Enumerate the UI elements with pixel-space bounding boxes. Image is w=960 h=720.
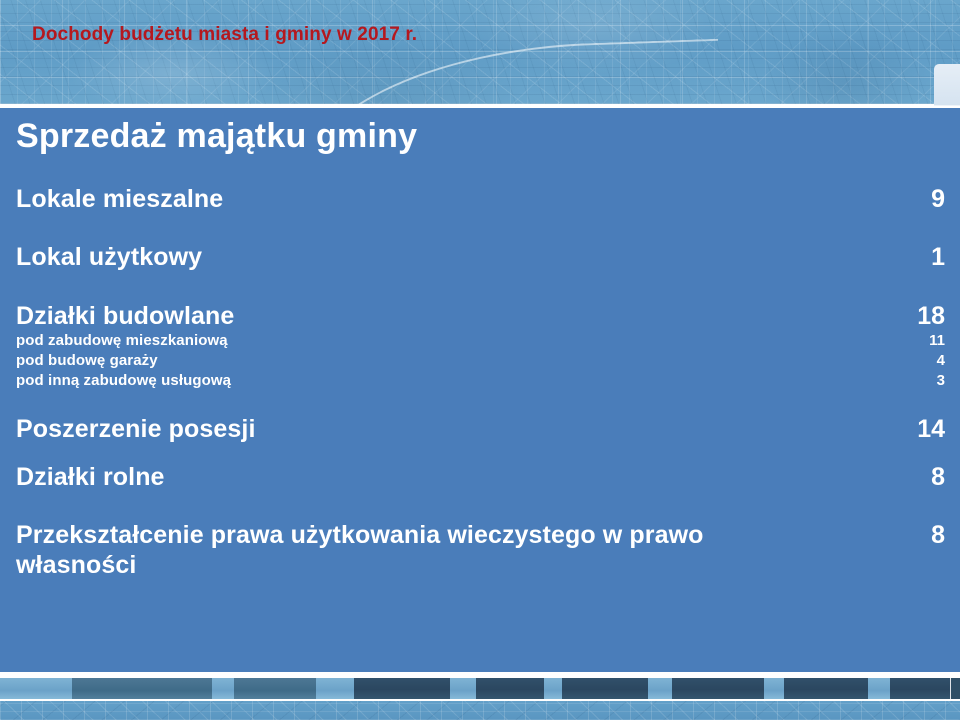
sub-list-item-label: pod inną zabudowę usługową — [16, 371, 231, 391]
footer-filmstrip — [0, 678, 960, 699]
filmstrip-segment — [354, 678, 451, 699]
slide-root: Dochody budżetu miasta i gminy w 2017 r.… — [0, 0, 960, 720]
footer-texture-overlay — [0, 701, 960, 720]
page-title: Dochody budżetu miasta i gminy w 2017 r. — [32, 24, 417, 46]
list-item-value: 8 — [931, 463, 945, 493]
list-item: Lokal użytkowy 1 — [16, 243, 945, 273]
filmstrip-segment — [316, 678, 355, 699]
list-item-value: 1 — [931, 243, 945, 273]
list-item-value: 18 — [917, 302, 945, 332]
filmstrip-segment — [672, 678, 765, 699]
list-item-label: Przekształcenie prawa użytkowania wieczy… — [16, 521, 716, 580]
spacer — [16, 391, 945, 415]
filmstrip-segment — [450, 678, 477, 699]
filmstrip-segment — [234, 678, 317, 699]
list-item-label: Działki rolne — [16, 463, 165, 493]
list-item: Przekształcenie prawa użytkowania wieczy… — [16, 521, 945, 580]
spacer — [16, 492, 945, 521]
list-item: Działki budowlane 18 — [16, 302, 945, 332]
filmstrip-segment — [648, 678, 673, 699]
filmstrip-segment — [868, 678, 891, 699]
spacer — [16, 273, 945, 302]
panel-heading: Sprzedaż majątku gminy — [16, 118, 945, 155]
filmstrip-segment — [784, 678, 869, 699]
sub-list-item-label: pod budowę garaży — [16, 351, 158, 371]
filmstrip-segment — [476, 678, 545, 699]
list-item-value: 8 — [931, 521, 945, 551]
filmstrip-segment — [134, 678, 213, 699]
filmstrip-segment — [764, 678, 785, 699]
list-item-label: Lokale mieszalne — [16, 185, 223, 215]
list-item-value: 14 — [917, 415, 945, 445]
sub-list-item: pod budowę garaży 4 — [16, 351, 945, 371]
list-item-label: Lokal użytkowy — [16, 243, 202, 273]
sub-list-item-value: 4 — [937, 351, 945, 371]
list-item-value: 9 — [931, 185, 945, 215]
filmstrip-segment — [0, 678, 73, 699]
corner-chip-decoration — [934, 64, 960, 106]
footer-decoration — [0, 672, 960, 720]
sub-list-item-label: pod zabudowę mieszkaniową — [16, 331, 228, 351]
list-item: Lokale mieszalne 9 — [16, 185, 945, 215]
sub-list-item-value: 11 — [929, 331, 945, 351]
sub-list-item: pod inną zabudowę usługową 3 — [16, 371, 945, 391]
list-item-label: Poszerzenie posesji — [16, 415, 256, 445]
filmstrip-segment — [562, 678, 649, 699]
sub-list-item-value: 3 — [937, 371, 945, 391]
content-panel-inner: Sprzedaż majątku gminy Lokale mieszalne … — [16, 118, 945, 580]
filmstrip-segment — [212, 678, 235, 699]
list-item-label: Działki budowlane — [16, 302, 234, 332]
footer-texture-band — [0, 701, 960, 720]
filmstrip-segment — [544, 678, 563, 699]
spacer — [16, 445, 945, 463]
spacer — [16, 214, 945, 243]
filmstrip-segment — [72, 678, 135, 699]
list-item: Poszerzenie posesji 14 — [16, 415, 945, 445]
content-panel: Sprzedaż majątku gminy Lokale mieszalne … — [0, 108, 960, 672]
header-banner — [0, 0, 960, 104]
filmstrip-segment — [890, 678, 951, 699]
list-item: Działki rolne 8 — [16, 463, 945, 493]
sub-list-item: pod zabudowę mieszkaniową 11 — [16, 331, 945, 351]
